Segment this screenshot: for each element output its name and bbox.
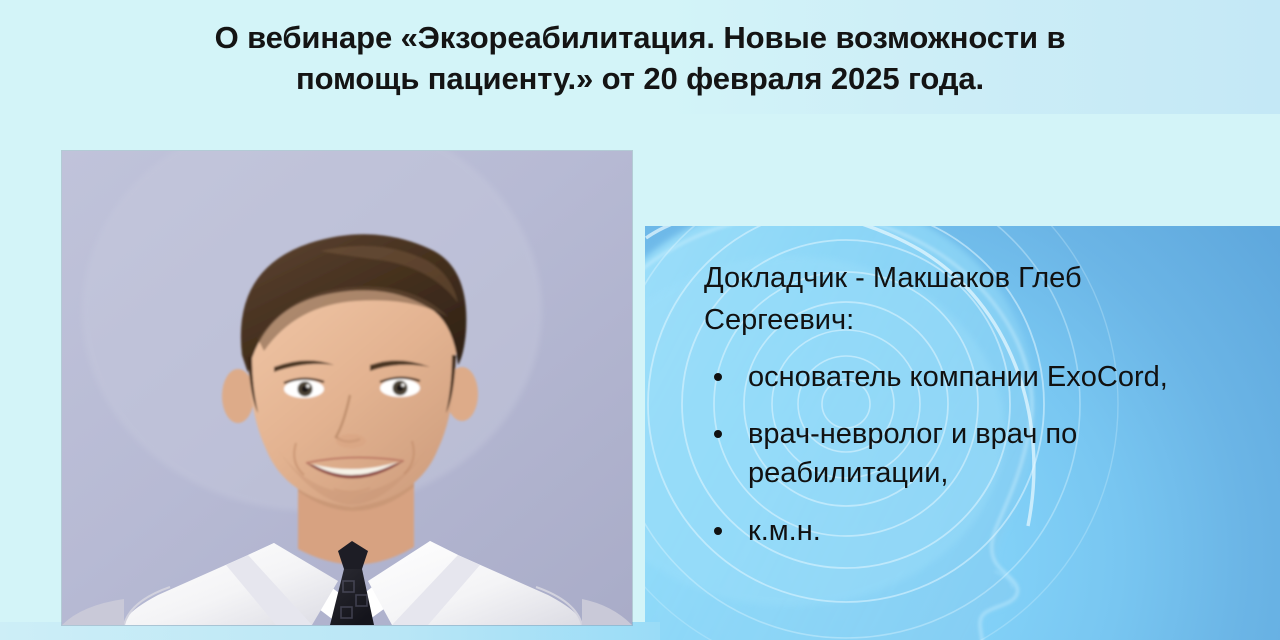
- speaker-photo: [62, 151, 632, 625]
- page-title: О вебинаре «Экзореабилитация. Новые возм…: [60, 18, 1220, 100]
- list-item: основатель компании ExoCord,: [704, 358, 1264, 397]
- list-item-label: к.м.н.: [748, 515, 821, 547]
- list-item-label: основатель компании ExoCord,: [748, 361, 1168, 393]
- presentation-slide: О вебинаре «Экзореабилитация. Новые возм…: [0, 0, 1280, 640]
- list-item-label: врач-невролог и врач по реабилитации,: [748, 418, 1077, 489]
- list-item: врач-невролог и врач по реабилитации,: [704, 415, 1264, 494]
- title-band: О вебинаре «Экзореабилитация. Новые возм…: [0, 0, 1280, 114]
- bullet-dot-icon: [714, 527, 722, 535]
- speaker-info-block: Докладчик - Макшаков Глеб Сергеевич: осн…: [704, 258, 1264, 569]
- list-item: к.м.н.: [704, 512, 1264, 551]
- speaker-credentials-list: основатель компании ExoCord, врач-неврол…: [704, 358, 1264, 552]
- speaker-heading: Докладчик - Макшаков Глеб Сергеевич:: [704, 258, 1184, 342]
- speaker-portrait-graphic: [62, 151, 632, 625]
- bullet-dot-icon: [714, 373, 722, 381]
- bullet-dot-icon: [714, 430, 722, 438]
